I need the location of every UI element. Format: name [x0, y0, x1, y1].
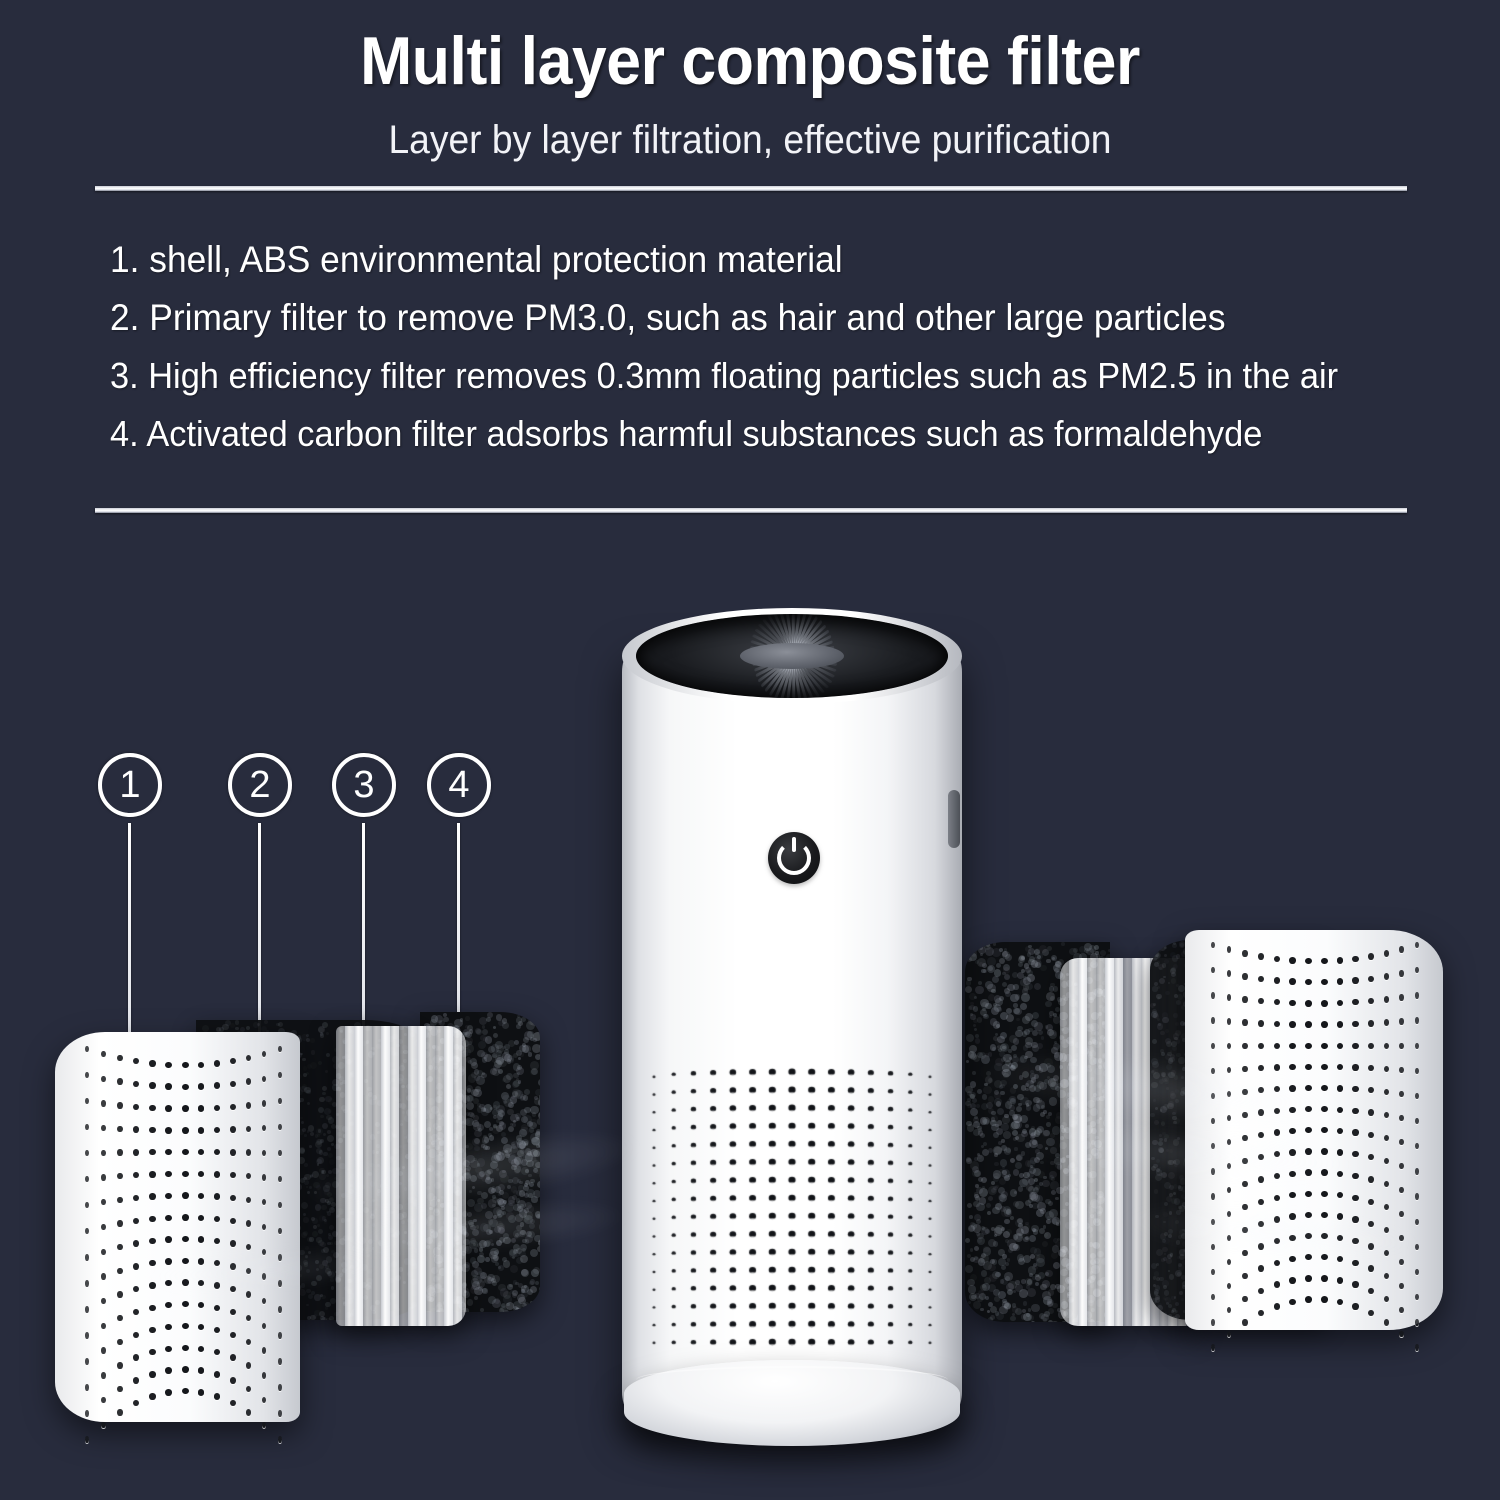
feature-list: 1. shell, ABS environmental protection m… — [110, 232, 1440, 464]
divider-top — [95, 186, 1407, 191]
page-subtitle: Layer by layer filtration, effective pur… — [53, 118, 1448, 163]
fan-grille — [636, 614, 948, 698]
power-icon — [777, 841, 811, 875]
shell-panel-right — [1185, 930, 1443, 1330]
feature-item-2: 2. Primary filter to remove PM3.0, such … — [110, 290, 1380, 346]
device-base-highlight — [636, 1366, 948, 1394]
feature-item-4: 4. Activated carbon filter adsorbs harmf… — [110, 406, 1380, 462]
feature-item-3: 3. High efficiency filter removes 0.3mm … — [110, 348, 1380, 404]
callout-number-3: 3 — [332, 753, 396, 817]
air-purifier-device — [622, 600, 962, 1445]
device-air-outlet-grille — [630, 1060, 954, 1360]
divider-bottom — [95, 508, 1407, 513]
power-button[interactable] — [768, 832, 820, 884]
feature-item-1: 1. shell, ABS environmental protection m… — [110, 232, 1380, 288]
shell-panel-left — [55, 1032, 300, 1422]
hepa-filter-left — [336, 1026, 466, 1326]
side-port — [948, 790, 960, 848]
grille-holes — [630, 1060, 954, 1360]
callout-number-1: 1 — [98, 753, 162, 817]
shell-perforations-left — [55, 1032, 300, 1422]
callout-number-4: 4 — [427, 753, 491, 817]
callout-number-2: 2 — [228, 753, 292, 817]
shell-perforations-right — [1185, 930, 1443, 1330]
infographic-page: Multi layer composite filter Layer by la… — [0, 0, 1500, 1500]
fan-inner-shadow — [636, 614, 948, 698]
page-title: Multi layer composite filter — [60, 22, 1440, 100]
